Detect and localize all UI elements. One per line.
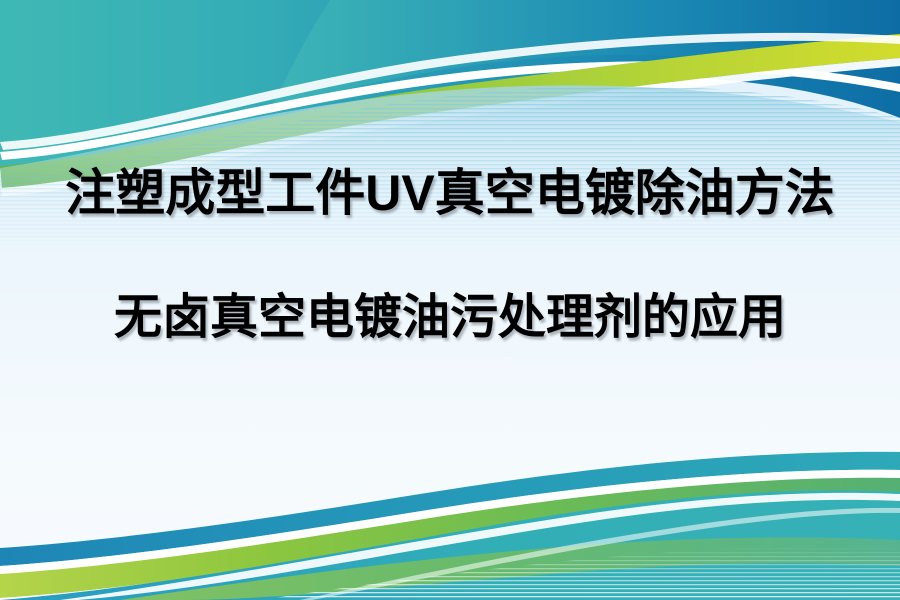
top-wave-white-stripe-upper (0, 61, 900, 160)
bottom-wave-green-ribbon (0, 478, 900, 598)
bottom-wave-blue-band (0, 452, 900, 566)
bottom-wave-inner-green-sweep (120, 537, 900, 600)
bottom-wave-accent-line (60, 493, 900, 600)
bottom-wave-white-stripe-upper (0, 470, 900, 574)
bottom-wave-highlight-line (300, 508, 900, 600)
bottom-wave-white-stripe-lower (0, 500, 900, 600)
presentation-slide: 注塑成型工件UV真空电镀除油方法 无卤真空电镀油污处理剂的应用 (0, 0, 900, 600)
bottom-wave-primary-teal-body (0, 490, 900, 600)
top-wave-secondary-band (270, 0, 900, 110)
slide-title-line-1: 注塑成型工件UV真空电镀除油方法 (0, 168, 900, 218)
slide-title-line-2: 无卤真空电镀油污处理剂的应用 (0, 294, 900, 342)
slide-title-block: 注塑成型工件UV真空电镀除油方法 无卤真空电镀油污处理剂的应用 (0, 168, 900, 342)
top-wave-accent-line (0, 33, 900, 150)
top-wave-primary-band (0, 0, 900, 170)
